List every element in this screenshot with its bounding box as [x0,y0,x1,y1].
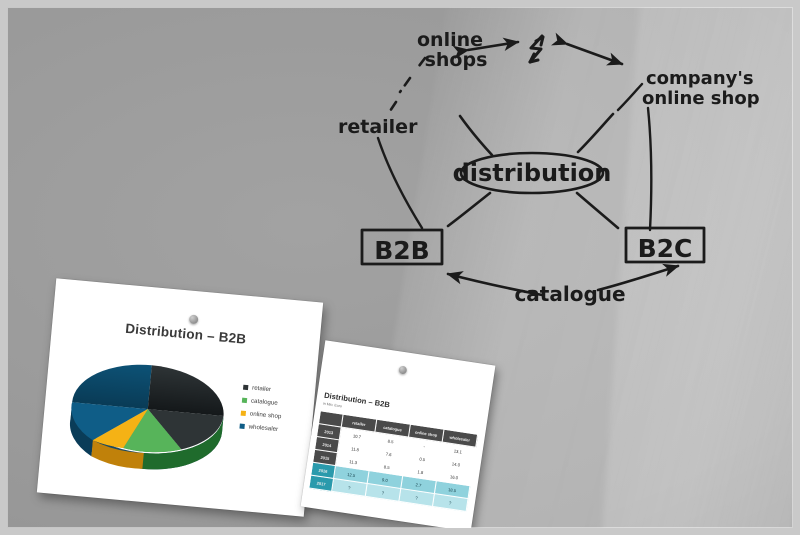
label-b2c: B2C [638,234,693,263]
legend-label-catalogue: catalogue [251,397,278,406]
screenshot-root: distribution online shops company's onli… [0,0,800,535]
legend-item-online-shop: online shop [241,410,282,421]
whiteboard-diagram: distribution online shops company's onli… [330,18,800,318]
label-distribution: distribution [453,159,612,187]
distribution-table: retailer catalogue online shop wholesale… [308,410,478,512]
label-catalogue: catalogue [514,282,625,306]
pie-slice-retailer [148,365,228,416]
label-retailer: retailer [338,116,418,138]
legend-swatch-catalogue [242,398,247,403]
label-online-shops-line1: online [417,29,483,51]
pie-chart-card[interactable]: Distribution – B2B [37,278,323,516]
label-companys-online-shop-line1: company's [646,68,754,89]
label-companys-online-shop-line2: online shop [642,88,760,109]
legend-item-wholesaler: wholesaler [239,423,280,434]
label-b2b: B2B [374,236,430,265]
table-row-year: 2017 [309,475,334,491]
pushpin-icon [398,365,407,374]
legend-swatch-wholesaler [239,424,244,429]
lightning-icon [530,36,543,62]
legend-label-online-shop: online shop [249,410,281,420]
label-online-shops-line2: shops [425,49,488,71]
legend-item-catalogue: catalogue [242,397,283,408]
pie-chart-graphic [58,342,238,477]
pushpin-icon [189,315,199,325]
table-card-subtitle: in Mio. Euro [323,402,343,409]
legend-swatch-online-shop [241,411,246,416]
table-card[interactable]: Distribution – B2B in Mio. Euro retailer… [301,340,496,532]
pie-chart-legend: retailer catalogue online shop wholesale… [239,384,284,433]
legend-item-retailer: retailer [243,384,284,395]
legend-label-retailer: retailer [252,385,271,394]
pie-slice-wholesaler [72,358,152,409]
legend-label-wholesaler: wholesaler [248,423,278,433]
legend-swatch-retailer [243,385,248,390]
